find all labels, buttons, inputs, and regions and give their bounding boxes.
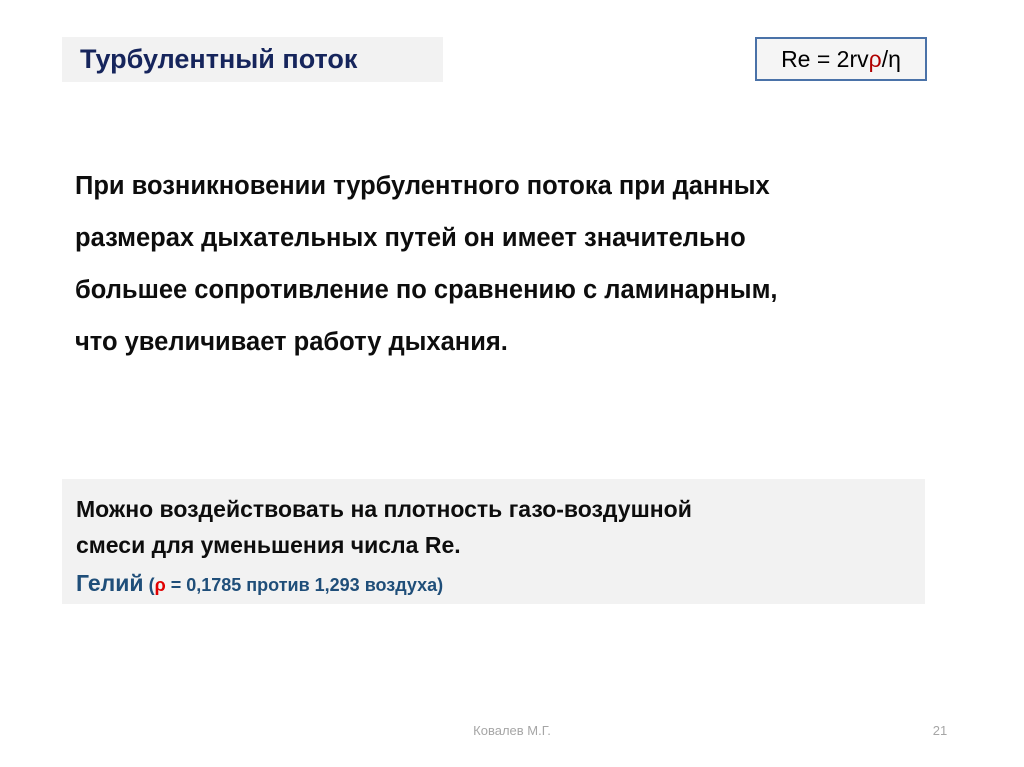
reynolds-formula-box: Re = 2rvρ/η [755,37,927,81]
footer-author: Ковалев М.Г. [0,723,1024,738]
helium-rho-wrap: ρ [155,575,166,595]
body-line-4: что увеличивает работу дыхания. [75,316,945,368]
helium-rho-symbol: ρ [155,575,166,595]
body-paragraph: При возникновении турбулентного потока п… [75,160,945,368]
helium-detail-text: = 0,1785 против 1,293 воздуха) [166,575,443,595]
highlight-box: Можно воздействовать на плотность газо-в… [62,479,925,604]
page-title: Турбулентный поток [62,46,357,73]
formula-rho-symbol: ρ [869,46,882,72]
highlight-line-2: смеси для уменьшения числа Re. [76,527,925,563]
body-line-2: размерах дыхательных путей он имеет знач… [75,212,945,264]
formula-suffix: /η [882,46,901,72]
formula-prefix: Re = 2rv [781,46,869,72]
highlight-line-1: Можно воздействовать на плотность газо-в… [76,491,925,527]
reynolds-formula-text: Re = 2rvρ/η [781,48,901,71]
slide-title-box: Турбулентный поток [62,37,443,82]
slide-canvas: Турбулентный поток Re = 2rvρ/η При возни… [0,0,1024,767]
helium-note: Гелий (ρ = 0,1785 против 1,293 воздуха) [76,565,925,605]
footer-page-number: 21 [900,723,980,738]
helium-label: Гелий [76,570,144,596]
body-line-3: большее сопротивление по сравнению с лам… [75,264,945,316]
body-line-1: При возникновении турбулентного потока п… [75,160,945,212]
